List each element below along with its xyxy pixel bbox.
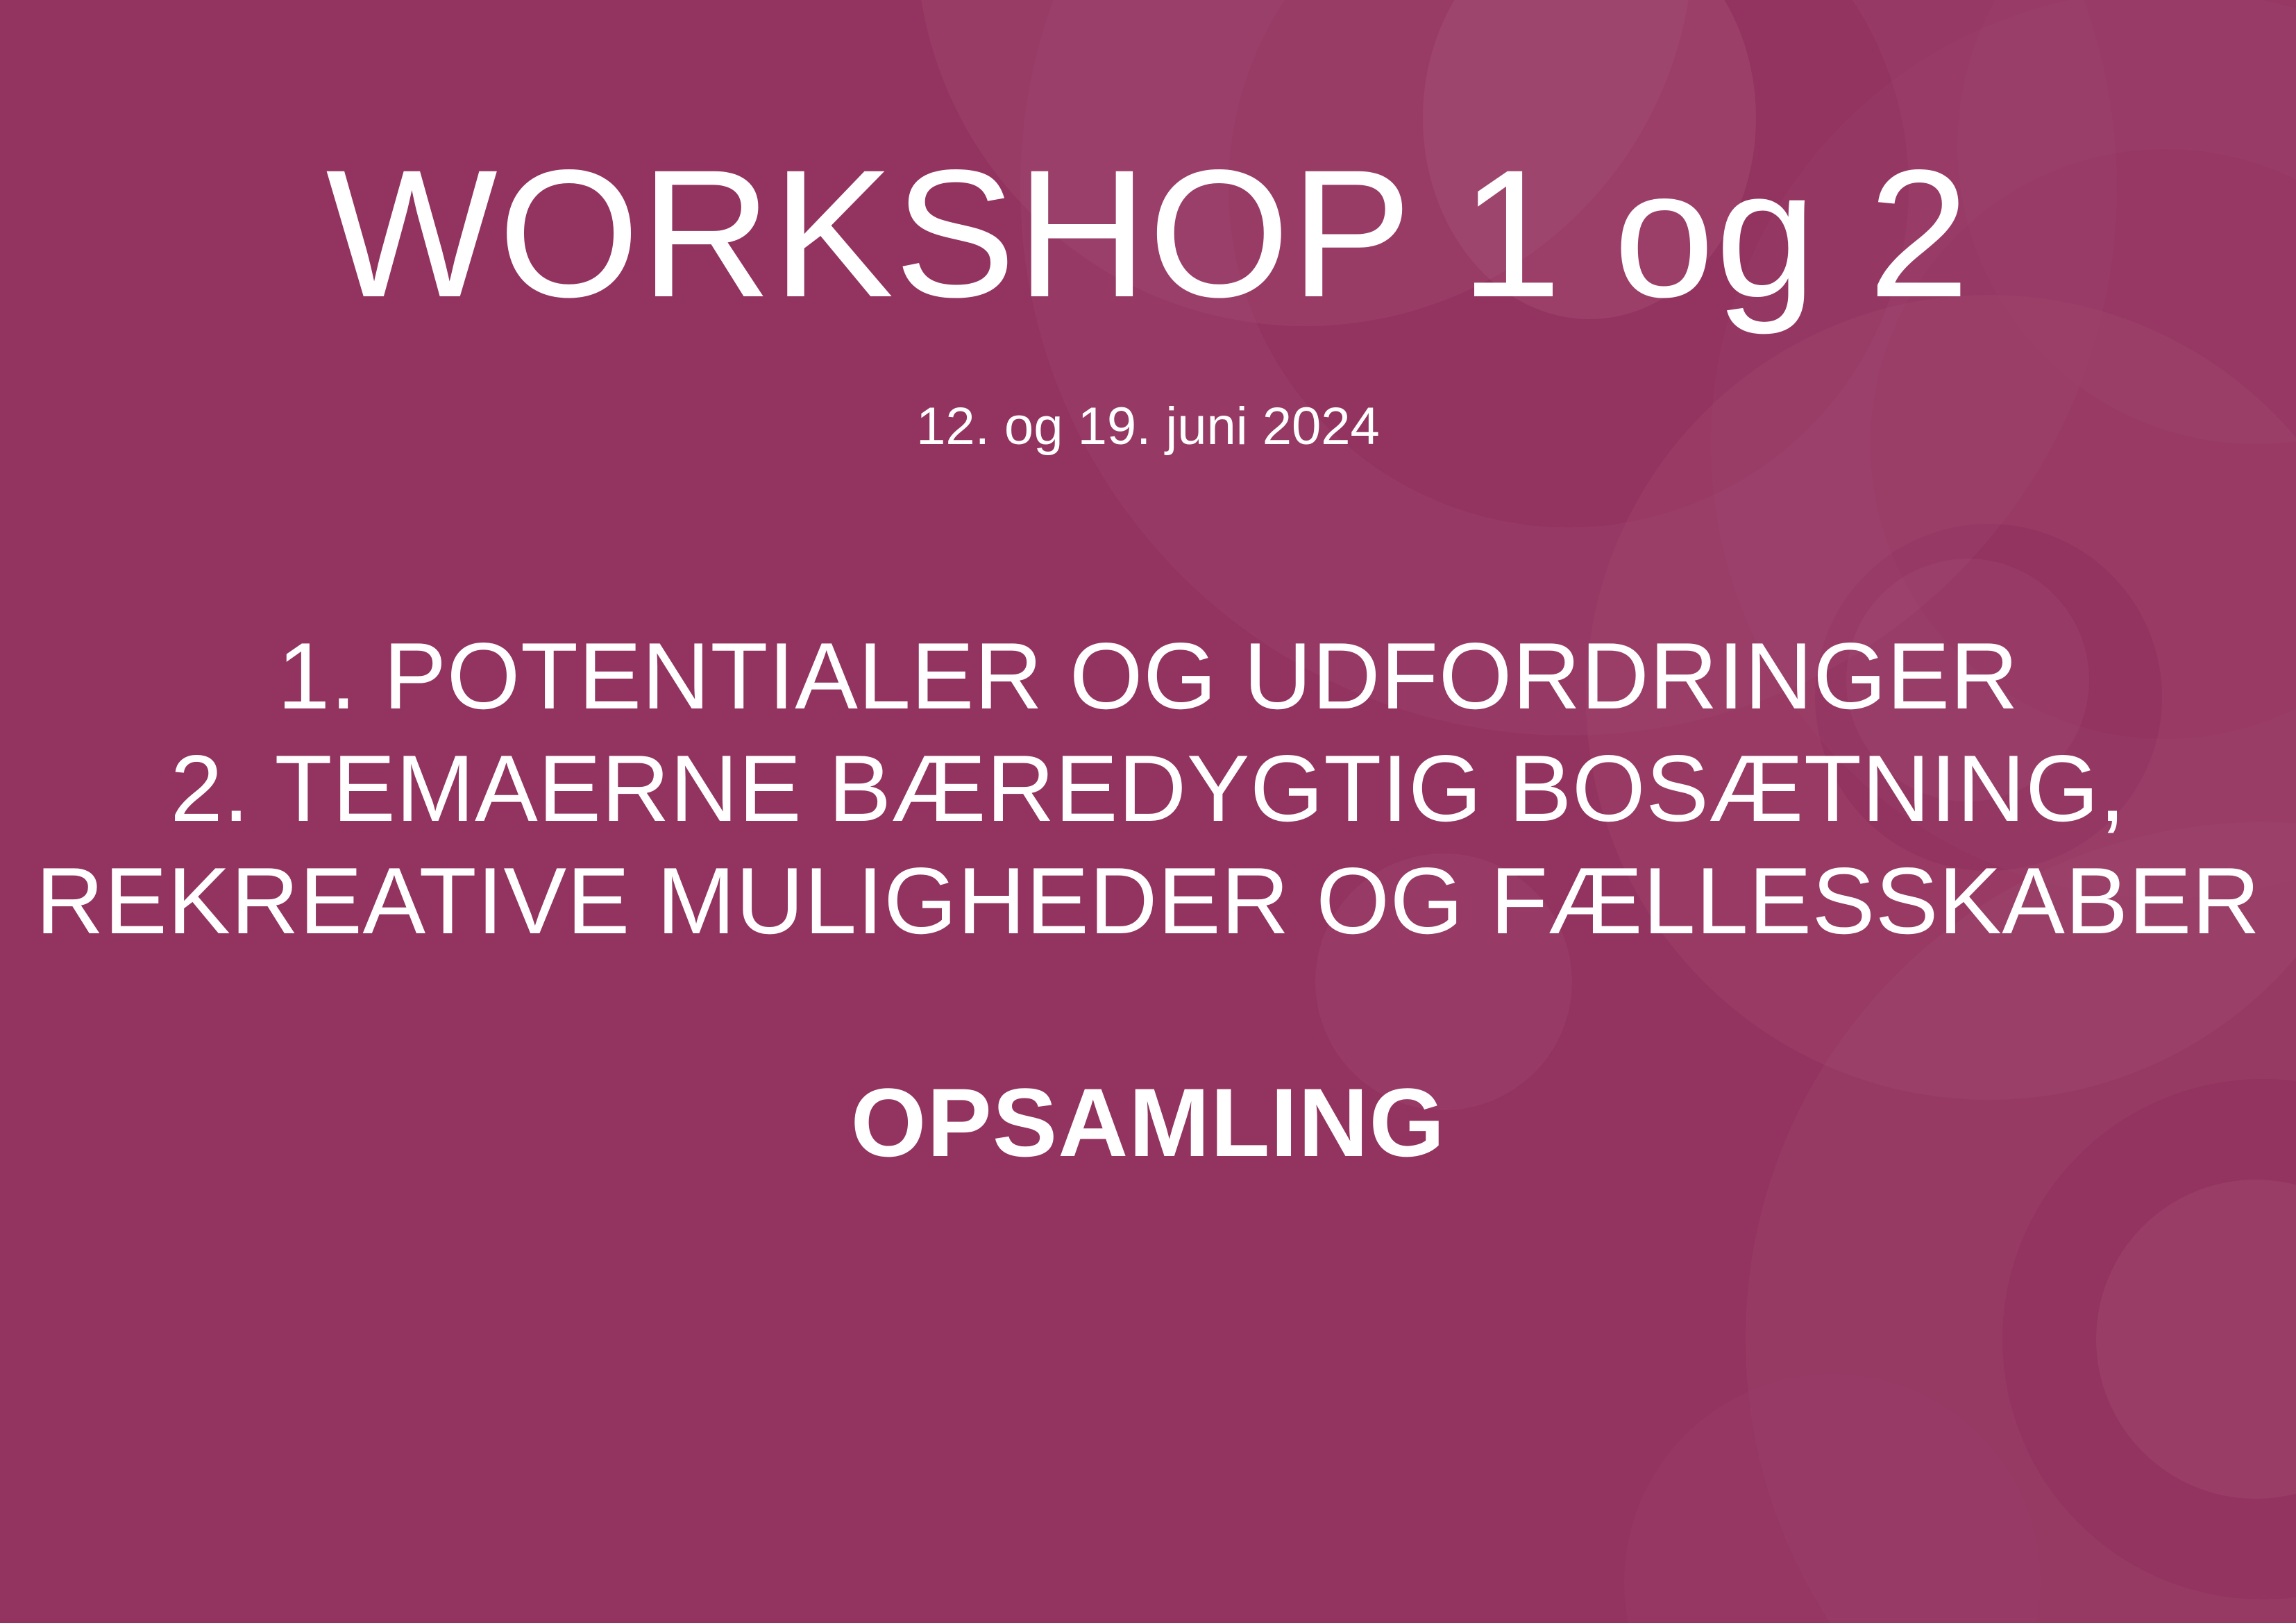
body-line-1: 1. POTENTIALER OG UDFORDRINGER xyxy=(0,620,2296,732)
slide-content: WORKSHOP 1 og 2 12. og 19. juni 2024 1. … xyxy=(0,0,2296,1623)
slide-title: WORKSHOP 1 og 2 xyxy=(0,143,2296,325)
slide-subtitle-date: 12. og 19. juni 2024 xyxy=(0,400,2296,453)
body-line-2: 2. TEMAERNE BÆREDYGTIG BOSÆTNING, xyxy=(0,732,2296,844)
slide-footer-heading: OPSAMLING xyxy=(0,1074,2296,1171)
slide-body-list: 1. POTENTIALER OG UDFORDRINGER 2. TEMAER… xyxy=(0,620,2296,957)
presentation-slide: WORKSHOP 1 og 2 12. og 19. juni 2024 1. … xyxy=(0,0,2296,1623)
body-line-3: REKREATIVE MULIGHEDER OG FÆLLESSKABER xyxy=(0,844,2296,957)
